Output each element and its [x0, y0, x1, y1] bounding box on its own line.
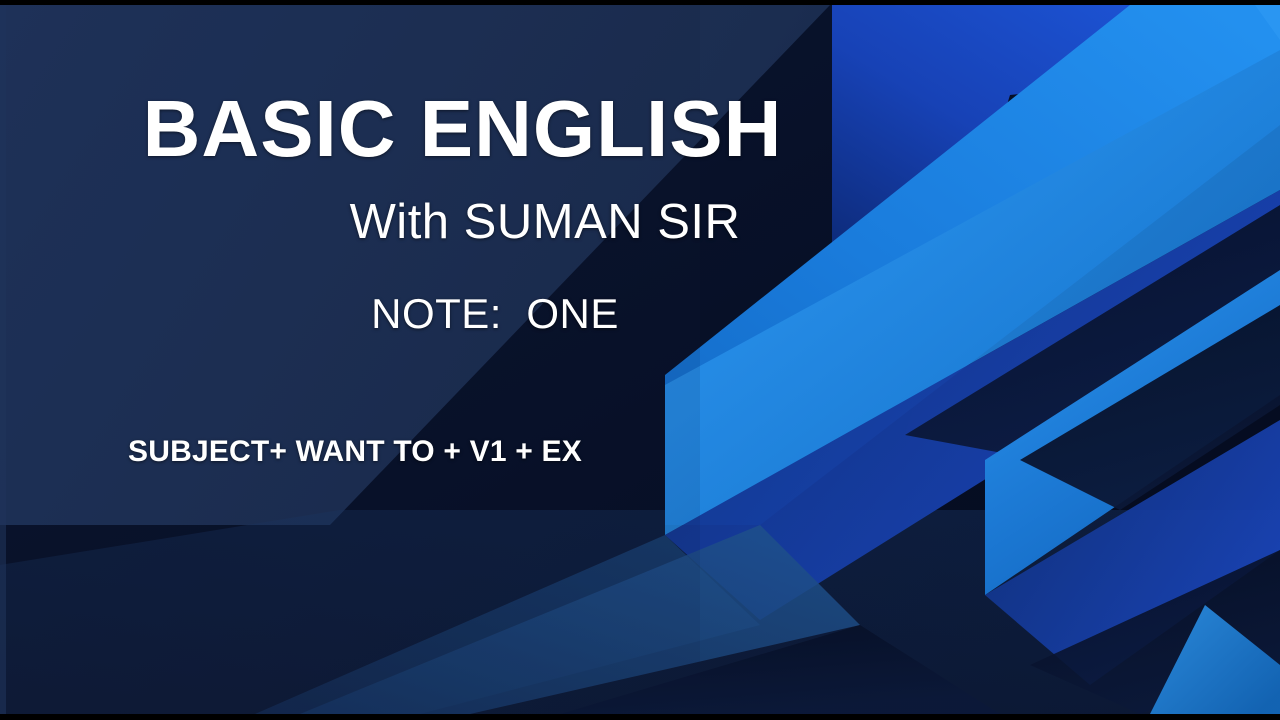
grammar-formula: SUBJECT+ WANT TO + V1 + EX — [128, 437, 582, 467]
slide-canvas: BASIC ENGLISH With SUMAN SIR NOTE: ONE S… — [0, 0, 1280, 720]
page-title: BASIC ENGLISH — [0, 89, 925, 169]
letterbox-bar-bottom — [0, 714, 1280, 720]
slide-subtitle: With SUMAN SIR — [0, 198, 1090, 247]
letterbox-bar-top — [0, 0, 1280, 5]
slide-text-layer: BASIC ENGLISH With SUMAN SIR NOTE: ONE S… — [0, 5, 1280, 714]
slide-note-label: NOTE: ONE — [0, 293, 990, 335]
